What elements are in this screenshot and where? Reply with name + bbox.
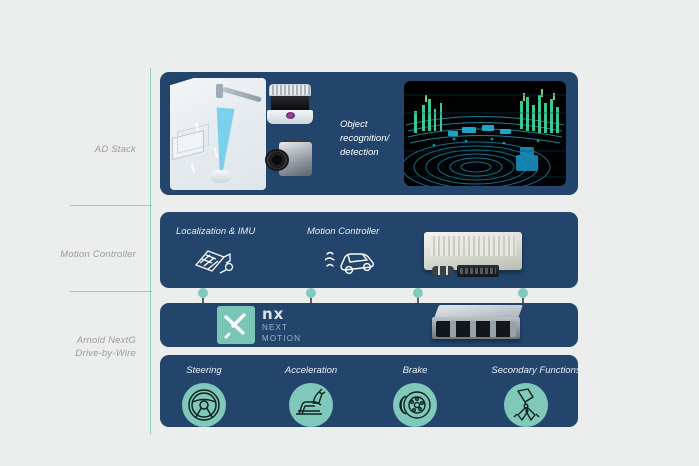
brake-disc-icon[interactable] [393,383,437,427]
connector-dot-1 [198,288,208,298]
row-label-drive-by-wire: Arnold NextG Drive-by-Wire [75,335,136,360]
function-label-steering: Steering [160,365,248,376]
lidar-scanning-road-scene [170,78,266,190]
car-motion-icon [325,240,379,280]
row-label-ad-stack: AD Stack [95,144,136,157]
localization-imu-label: Localization & IMU [176,226,255,237]
camera-sensor-image [265,140,317,180]
function-label-acceleration: Acceleration [266,365,356,376]
diagram-canvas: AD Stack Motion Controller Arnold NextG … [0,0,699,466]
connector-dot-2 [306,288,316,298]
horizontal-divider-motion-dbw [70,291,152,292]
lidar-point-cloud-image [404,81,566,186]
nx-logo-next: NEXT [262,323,301,333]
object-recognition-caption: Object recognition/ detection [340,118,402,160]
imu-chip-icon [190,243,236,277]
nx-logo-motion: MOTION [262,334,301,344]
connector-dot-4 [518,288,528,298]
function-label-brake: Brake [378,365,452,376]
accelerator-pedal-icon[interactable] [289,383,333,427]
lidar-sensor-image [266,84,314,128]
motion-controller-label: Motion Controller [307,226,379,237]
nx-logo: nx NEXT MOTION [217,306,313,344]
function-label-secondary-functions: Secondary Functions [474,365,598,376]
vertical-guide-line [150,68,151,434]
horizontal-divider-ad-motion [70,205,152,206]
drive-by-wire-ecu-image [432,305,524,345]
nx-wordmark: nx [262,307,301,322]
nx-logo-mark [217,306,255,344]
row-label-motion-controller: Motion Controller [60,249,136,262]
windshield-wipers-icon[interactable] [504,383,548,427]
steering-wheel-icon[interactable] [182,383,226,427]
connector-dot-3 [413,288,423,298]
motion-controller-ecu-image [424,232,522,282]
